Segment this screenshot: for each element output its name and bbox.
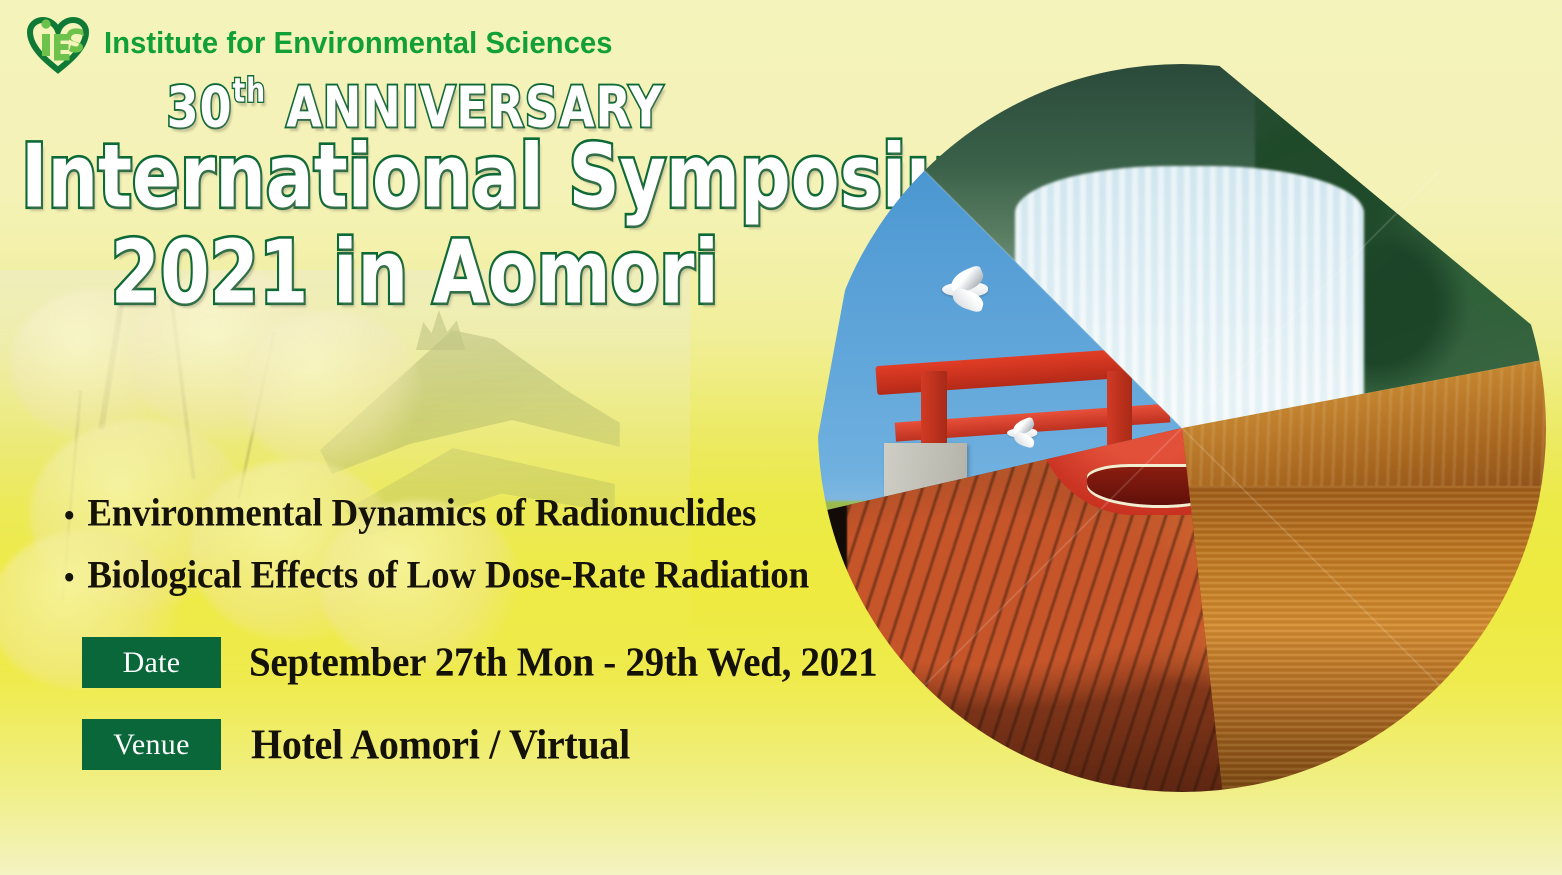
headline-block: 30thANNIVERSARY International Symposium …	[0, 78, 830, 310]
topic-label: Environmental Dynamics of Radionuclides	[87, 491, 756, 537]
brand-name: Institute for Environmental Sciences	[104, 25, 613, 61]
topic-label: Biological Effects of Low Dose-Rate Radi…	[87, 553, 809, 599]
temple-roof-upper	[320, 330, 620, 480]
date-row: Date September 27th Mon - 29th Wed, 2021	[82, 637, 877, 688]
blossom-branch	[237, 332, 275, 499]
blossom-cluster	[240, 310, 420, 470]
photo-collage-circle: 蕘嶋神社	[818, 64, 1546, 792]
date-value: September 27th Mon - 29th Wed, 2021	[249, 639, 877, 686]
venue-label-badge: Venue	[82, 719, 221, 770]
topic-list: • Environmental Dynamics of Radionuclide…	[64, 492, 864, 616]
event-info: Date September 27th Mon - 29th Wed, 2021…	[82, 637, 877, 801]
ies-heart-logo-icon	[26, 12, 90, 74]
page-title-line-2: 2021 in Aomori	[111, 229, 719, 316]
brand-header: Institute for Environmental Sciences	[26, 12, 645, 74]
venue-value: Hotel Aomori / Virtual	[251, 720, 630, 769]
venue-row: Venue Hotel Aomori / Virtual	[82, 719, 877, 770]
list-item: • Environmental Dynamics of Radionuclide…	[64, 491, 864, 537]
anniversary-suffix: th	[232, 71, 266, 109]
cherry-blossom-temple-watermark	[0, 270, 690, 690]
bullet-icon: •	[64, 500, 74, 532]
list-item: • Biological Effects of Low Dose-Rate Ra…	[64, 553, 864, 599]
bullet-icon: •	[64, 562, 74, 594]
poster-canvas: Institute for Environmental Sciences 30t…	[0, 0, 1562, 875]
watermark-sky	[0, 270, 690, 690]
date-label-badge: Date	[82, 637, 221, 688]
